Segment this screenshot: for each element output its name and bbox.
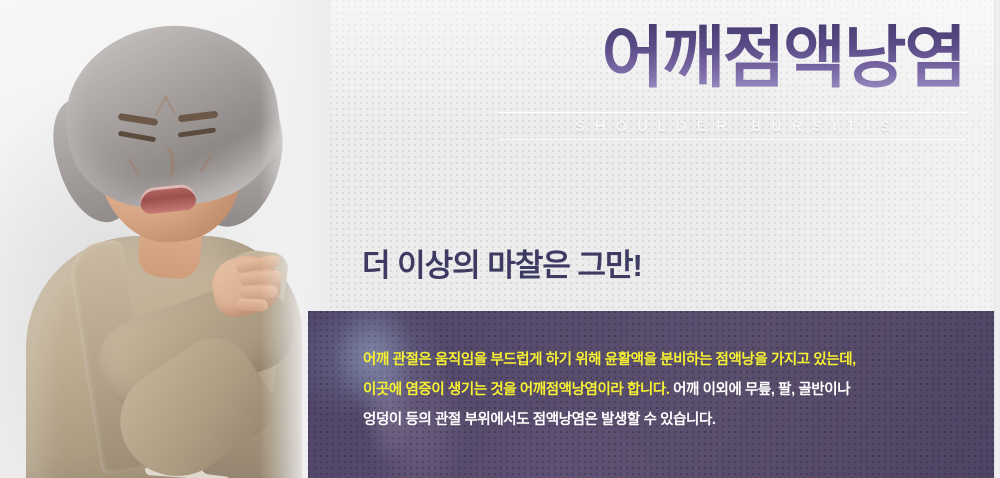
right-edge-strip xyxy=(994,0,1000,478)
tagline: 더 이상의 마찰은 그만! xyxy=(362,240,642,285)
description-line-3-plain: 엉덩이 등의 관절 부위에서도 점액낭염은 발생할 수 있습니다. xyxy=(363,412,716,428)
subtitle-rule-block: SHOULDER BURSITIS xyxy=(499,112,966,140)
shoulder-bursitis-banner: 어깨점액낭염 SHOULDER BURSITIS 더 이상의 마찰은 그만! 어… xyxy=(0,0,1000,478)
page-subtitle: SHOULDER BURSITIS xyxy=(499,113,966,139)
page-title: 어깨점액낭염 xyxy=(602,24,965,92)
description-text: 어깨 관절은 움직임을 부드럽게 하기 위해 윤활액을 분비하는 점액낭을 가지… xyxy=(363,345,963,435)
description-line-2-plain: 어깨 이외에 무릎, 팔, 골반이나 xyxy=(669,382,850,398)
description-line-1: 어깨 관절은 움직임을 부드럽게 하기 위해 윤활액을 분비하는 점액낭을 가지… xyxy=(363,345,963,375)
patient-photo xyxy=(0,0,330,478)
description-line-2: 이곳에 염증이 생기는 것을 어깨점액낭염이라 합니다. 어깨 이외에 무릎, … xyxy=(363,375,963,405)
description-line-2-highlight: 이곳에 염증이 생기는 것을 어깨점액낭염이라 합니다. xyxy=(363,382,669,398)
nose xyxy=(151,145,175,180)
description-line-1-highlight: 어깨 관절은 움직임을 부드럽게 하기 위해 윤활액을 분비하는 점액낭을 가지… xyxy=(363,352,856,368)
description-line-3: 엉덩이 등의 관절 부위에서도 점액낭염은 발생할 수 있습니다. xyxy=(363,405,963,435)
description-panel: 어깨 관절은 움직임을 부드럽게 하기 위해 윤활액을 분비하는 점액낭을 가지… xyxy=(308,311,996,478)
